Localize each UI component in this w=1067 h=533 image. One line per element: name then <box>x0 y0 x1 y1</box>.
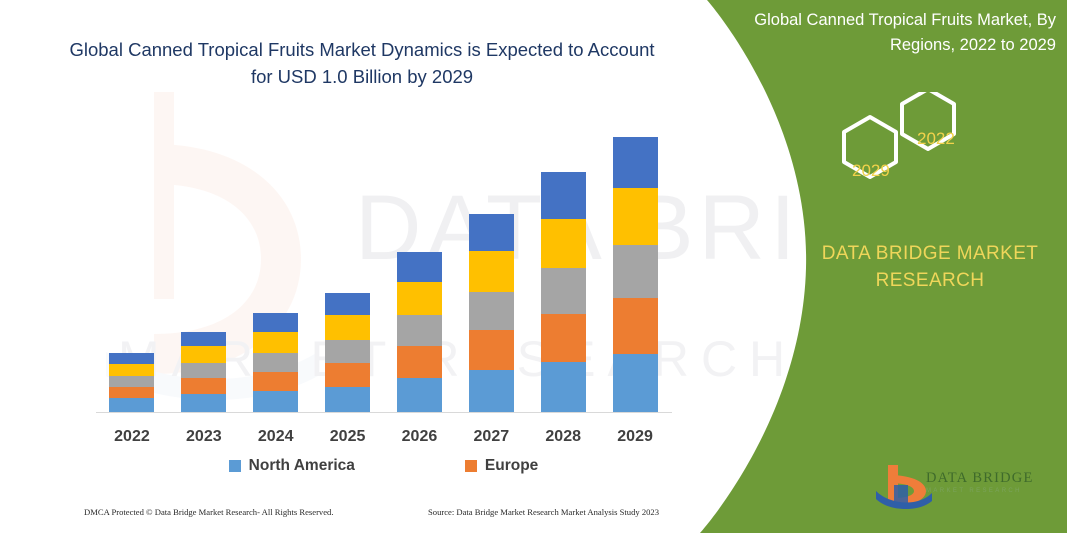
bar-column <box>312 120 384 412</box>
bar-segment <box>253 353 298 372</box>
bar-segment <box>613 298 658 354</box>
x-axis-tick-label: 2026 <box>384 428 456 446</box>
bar-segment <box>541 362 586 412</box>
bar-segment <box>325 387 370 412</box>
bar-column <box>455 120 527 412</box>
x-axis-labels: 20222023202420252026202720282029 <box>96 428 671 446</box>
bar-column <box>384 120 456 412</box>
bar-segment <box>541 314 586 362</box>
bar-segment <box>109 353 154 364</box>
bar-segment <box>397 346 442 378</box>
stacked-bar[interactable] <box>469 214 514 412</box>
bar-segment <box>469 370 514 412</box>
bar-segment <box>469 214 514 251</box>
legend-label: Europe <box>485 457 538 475</box>
stacked-bar[interactable] <box>181 332 226 412</box>
panel-title: Global Canned Tropical Fruits Market, By… <box>726 8 1056 58</box>
bar-segment <box>181 378 226 394</box>
bar-segment <box>109 387 154 398</box>
bar-segment <box>613 188 658 245</box>
bar-segment <box>613 245 658 298</box>
legend-label: North America <box>249 457 355 475</box>
bar-segment <box>181 346 226 363</box>
bar-segment <box>541 268 586 314</box>
legend-swatch <box>229 460 241 472</box>
bar-segment <box>397 378 442 412</box>
hex-label-2029: 2029 <box>852 161 890 181</box>
bar-segment <box>325 340 370 363</box>
bar-column <box>240 120 312 412</box>
panel-brand-name: DATA BRIDGE MARKET RESEARCH <box>790 240 1067 294</box>
bar-segment <box>181 363 226 378</box>
bar-segment <box>253 372 298 391</box>
bar-segment <box>397 315 442 346</box>
footer-source: Source: Data Bridge Market Research Mark… <box>428 507 659 517</box>
bar-segment <box>613 354 658 412</box>
legend-swatch <box>465 460 477 472</box>
x-axis-tick-label: 2022 <box>96 428 168 446</box>
stacked-bar[interactable] <box>253 313 298 412</box>
bar-segment <box>469 292 514 330</box>
x-axis-tick-label: 2028 <box>527 428 599 446</box>
stacked-bar[interactable] <box>325 293 370 412</box>
stacked-bar[interactable] <box>541 172 586 412</box>
bar-segment <box>181 394 226 412</box>
bar-segment <box>613 137 658 188</box>
bar-column <box>527 120 599 412</box>
x-axis-tick-label: 2023 <box>168 428 240 446</box>
bar-segment <box>253 313 298 332</box>
footer-copyright: DMCA Protected © Data Bridge Market Rese… <box>84 507 334 517</box>
bar-segment <box>109 376 154 387</box>
infographic-canvas: DATA BRIDGE MARKET RESEARCH Global Canne… <box>0 0 1067 533</box>
bar-segment <box>325 363 370 387</box>
x-axis-line <box>96 412 672 413</box>
bar-segment <box>325 293 370 315</box>
legend-item[interactable]: North America <box>229 457 355 475</box>
logo-brand-subtext: MARKET RESEARCH <box>926 488 1022 494</box>
bar-chart-plot <box>96 120 671 412</box>
bar-segment <box>253 391 298 412</box>
hex-label-2022: 2022 <box>917 129 955 149</box>
legend-item[interactable]: Europe <box>465 457 538 475</box>
x-axis-tick-label: 2024 <box>240 428 312 446</box>
bar-segment <box>397 282 442 315</box>
x-axis-tick-label: 2027 <box>455 428 527 446</box>
bar-column <box>96 120 168 412</box>
bar-segment <box>469 330 514 370</box>
bar-segment <box>109 398 154 412</box>
logo-brand-text: DATA BRIDGE <box>926 470 1034 487</box>
bar-segment <box>181 332 226 346</box>
bar-segment <box>541 172 586 219</box>
x-axis-tick-label: 2025 <box>312 428 384 446</box>
stacked-bar[interactable] <box>613 137 658 412</box>
chart-legend: North AmericaEurope <box>96 457 671 475</box>
bar-segment <box>109 364 154 376</box>
stacked-bar[interactable] <box>109 353 154 412</box>
bar-segment <box>541 219 586 268</box>
bar-segment <box>325 315 370 340</box>
bar-segment <box>397 252 442 282</box>
stacked-bar[interactable] <box>397 252 442 412</box>
bar-column <box>168 120 240 412</box>
hexagon-pair-icon <box>812 92 992 210</box>
bar-segment <box>469 251 514 292</box>
bar-segment <box>253 332 298 353</box>
page-title: Global Canned Tropical Fruits Market Dyn… <box>62 36 662 90</box>
